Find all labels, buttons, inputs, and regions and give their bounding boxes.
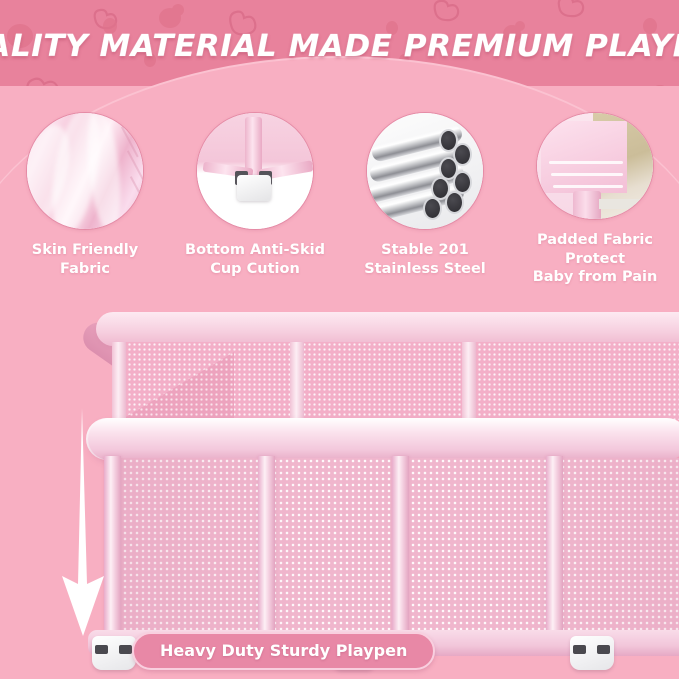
anti-skid-cup-foot-icon bbox=[196, 112, 314, 230]
playpen-back-post bbox=[462, 342, 476, 422]
playpen-back-post bbox=[290, 342, 304, 422]
playpen-back-rail bbox=[96, 312, 679, 346]
feature-skin-friendly-fabric: Skin Friendly Fabric bbox=[0, 112, 170, 287]
feature-row: Skin Friendly Fabric Bottom Anti-Skid Cu… bbox=[0, 112, 679, 287]
padded-corner-icon bbox=[536, 112, 654, 220]
playpen-foot bbox=[92, 636, 136, 670]
page-title-text: QUALITY MATERIAL MADE PREMIUM PLAYPEN bbox=[0, 29, 679, 64]
feature-padded-fabric-protect: Padded Fabric Protect Baby from Pain bbox=[510, 112, 679, 287]
playpen-product-image: Heavy Duty Sturdy Playpen bbox=[0, 300, 679, 679]
playpen-front-rail bbox=[88, 418, 679, 460]
status-badge-text: Heavy Duty Sturdy Playpen bbox=[160, 641, 407, 660]
playpen-foot bbox=[570, 636, 614, 670]
feature-label: Padded Fabric Protect Baby from Pain bbox=[510, 231, 679, 287]
playpen-back-post bbox=[112, 342, 126, 422]
feature-label: Bottom Anti-Skid Cup Cution bbox=[170, 241, 340, 278]
status-badge: Heavy Duty Sturdy Playpen bbox=[132, 632, 435, 670]
steel-tubes-stack-icon bbox=[366, 112, 484, 230]
feature-bottom-anti-skid-cup: Bottom Anti-Skid Cup Cution bbox=[170, 112, 340, 287]
feature-label: Stable 201 Stainless Steel bbox=[340, 241, 510, 278]
feature-label: Skin Friendly Fabric bbox=[0, 241, 170, 278]
playpen-front-post bbox=[104, 456, 121, 632]
feature-stable-stainless-steel: Stable 201 Stainless Steel bbox=[340, 112, 510, 287]
satin-fabric-swatch-icon bbox=[26, 112, 144, 230]
playpen-front-post bbox=[258, 456, 275, 632]
page-title: QUALITY MATERIAL MADE PREMIUM PLAYPEN bbox=[0, 0, 679, 92]
product-banner: QUALITY MATERIAL MADE PREMIUM PLAYPEN Sk… bbox=[0, 0, 679, 679]
playpen-front-post bbox=[546, 456, 563, 632]
playpen-front-post bbox=[392, 456, 409, 632]
down-arrow-icon bbox=[60, 408, 106, 640]
